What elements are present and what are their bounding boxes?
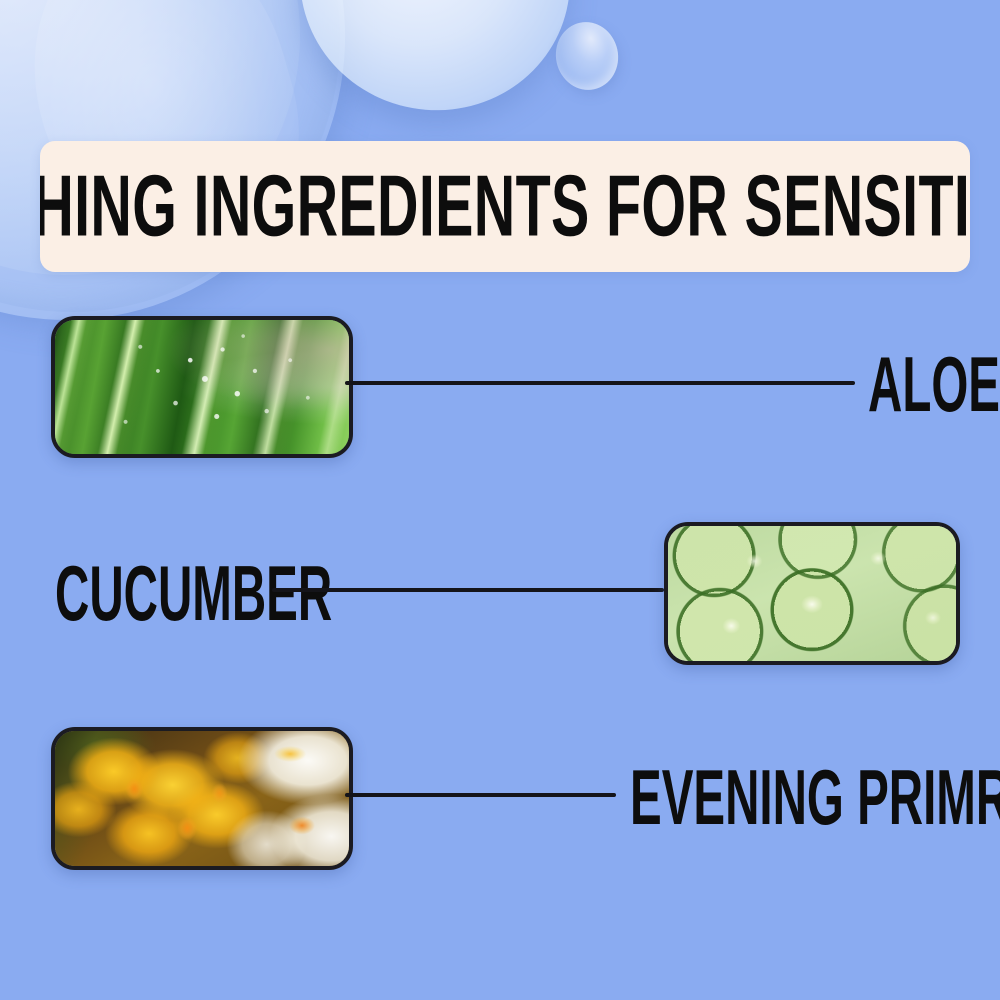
connector-line-cucumber (272, 588, 664, 592)
ingredient-photo-aloe (51, 316, 353, 458)
primrose-flowers-image (55, 731, 349, 866)
ingredient-photo-evening-primrose (51, 727, 353, 870)
ingredient-photo-cucumber (664, 522, 960, 665)
aloe-leaves-image (55, 320, 349, 454)
title-banner: NOURISHING INGREDIENTS FOR SENSITIVE SKI… (40, 141, 970, 272)
infographic-poster: NOURISHING INGREDIENTS FOR SENSITIVE SKI… (0, 0, 1000, 1000)
connector-line-evening-primrose (345, 793, 616, 797)
ingredient-label-aloe: ALOE (868, 346, 1000, 424)
page-title: NOURISHING INGREDIENTS FOR SENSITIVE SKI… (40, 167, 970, 247)
water-droplet-small-icon (550, 16, 625, 95)
ingredient-label-evening-primrose: EVENING PRIMROSE (630, 759, 1000, 837)
gel-blob-medium-icon (279, 0, 590, 131)
ingredient-label-cucumber: CUCUMBER (55, 555, 332, 633)
connector-line-aloe (345, 381, 855, 385)
cucumber-slices-image (668, 526, 956, 661)
